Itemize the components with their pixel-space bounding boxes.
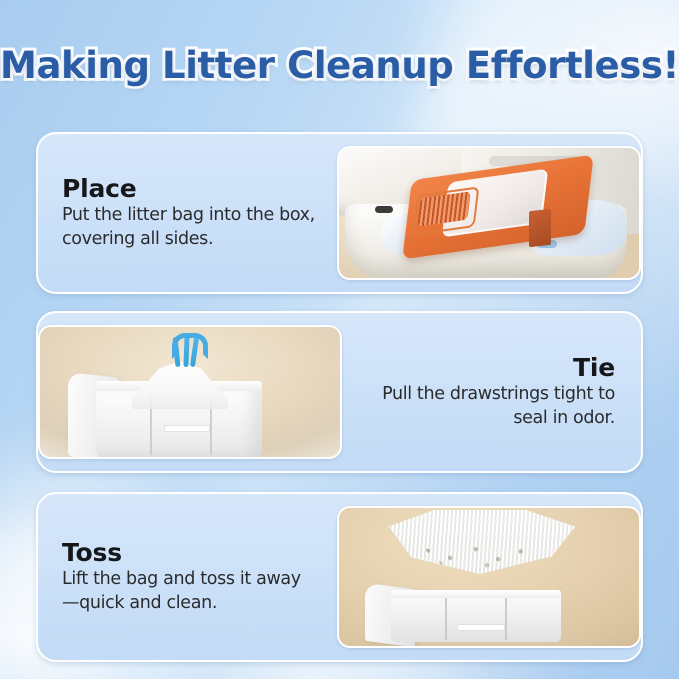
orange-frame-tab-shape — [529, 209, 551, 247]
step-toss-photo — [337, 506, 641, 648]
title-container: Making Litter Cleanup Effortless! — [0, 44, 679, 87]
step-toss-title: Toss — [62, 539, 317, 567]
step-card-toss-layout: Toss Lift the bag and toss it away—quick… — [38, 494, 641, 660]
litter-drawer-shape — [391, 594, 561, 642]
step-toss-text-column: Toss Lift the bag and toss it away—quick… — [38, 539, 337, 614]
step-toss-description: Lift the bag and toss it away—quick and … — [62, 568, 317, 614]
step-tie-title: Tie — [360, 354, 615, 382]
step-place-description: Put the litter bag into the box, coverin… — [62, 204, 317, 250]
drawer-handle-slot-shape — [375, 206, 393, 213]
step-tie-description: Pull the drawstrings tight to seal in od… — [360, 383, 615, 429]
step-card-tie: Tie Pull the drawstrings tight to seal i… — [36, 311, 643, 473]
step-place-text-column: Place Put the litter bag into the box, c… — [38, 175, 337, 250]
step-card-toss: Toss Lift the bag and toss it away—quick… — [36, 492, 643, 662]
drawer-rim-shape — [391, 590, 561, 598]
step-place-title: Place — [62, 175, 317, 203]
step-place-photo — [337, 146, 641, 280]
infographic-poster: Making Litter Cleanup Effortless! Place … — [0, 0, 679, 679]
step-card-tie-layout: Tie Pull the drawstrings tight to seal i… — [38, 313, 641, 471]
drawer-divider-right-shape — [505, 598, 507, 640]
page-title: Making Litter Cleanup Effortless! — [0, 44, 679, 87]
blue-drawstring-loop-shape — [172, 333, 208, 359]
step-card-place: Place Put the litter bag into the box, c… — [36, 132, 643, 294]
drawer-label-strip-shape — [164, 425, 210, 432]
drawer-divider-left-shape — [445, 598, 447, 640]
step-tie-text-column: Tie Pull the drawstrings tight to seal i… — [342, 354, 641, 429]
step-tie-photo — [38, 325, 342, 459]
drawer-label-strip-shape — [457, 624, 505, 631]
step-card-place-layout: Place Put the litter bag into the box, c… — [38, 134, 641, 292]
